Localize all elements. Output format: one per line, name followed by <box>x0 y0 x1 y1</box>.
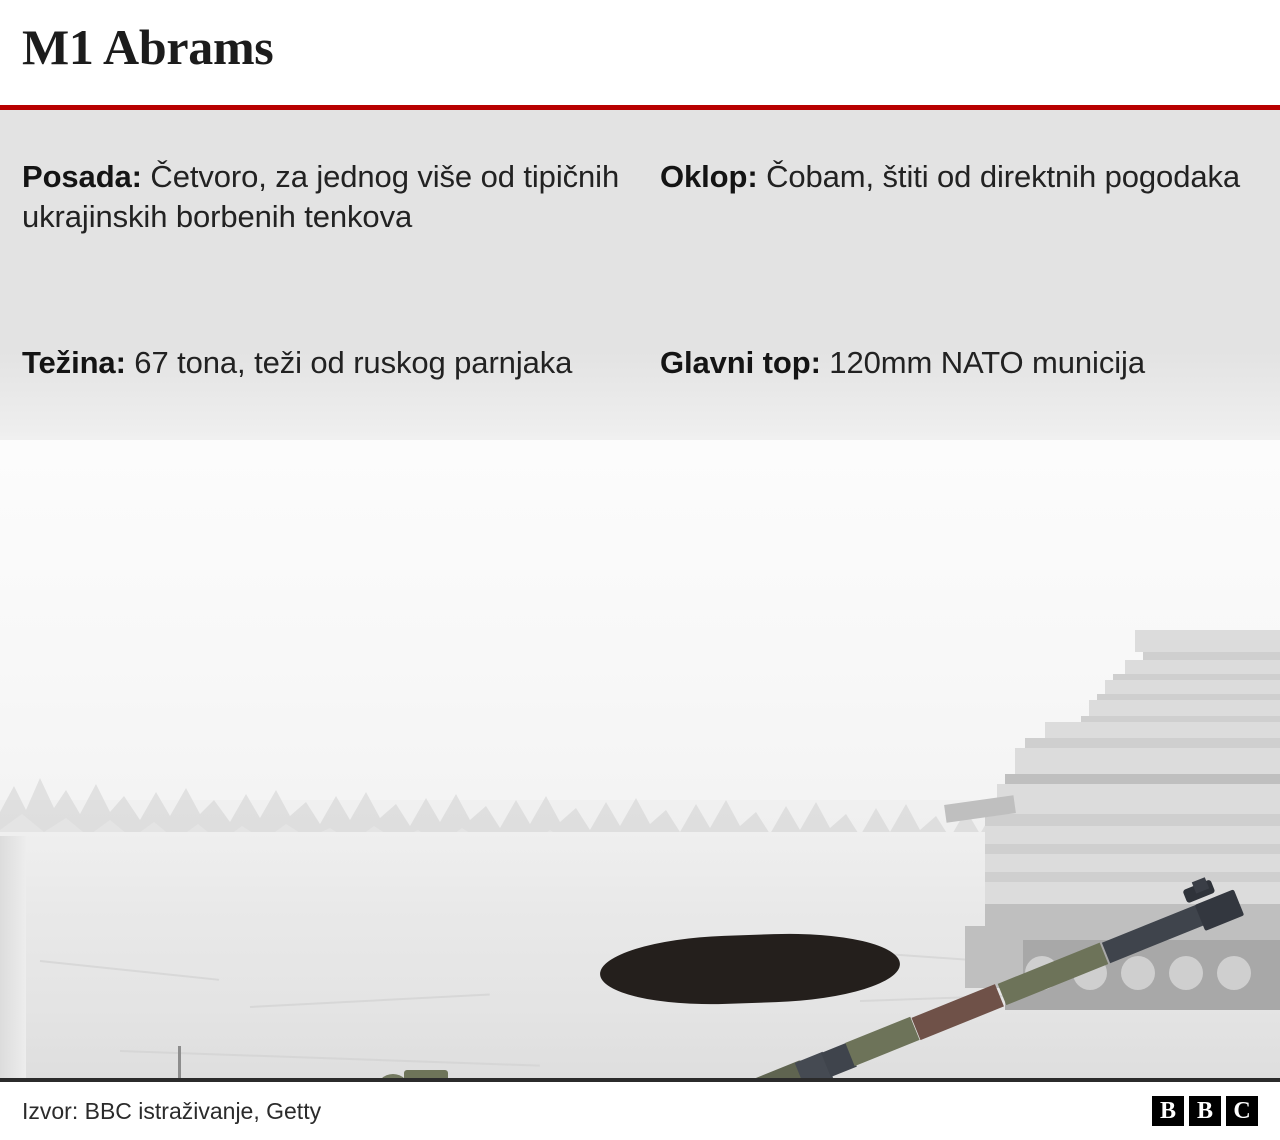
footer: Izvor: BBC istraživanje, Getty B B C <box>0 1082 1280 1140</box>
source-credit: Izvor: BBC istraživanje, Getty <box>22 1098 321 1125</box>
road-wheels <box>0 490 1280 1080</box>
fact-item-weight: Težina: 67 tona, teži od ruskog parnjaka <box>22 343 622 383</box>
header: M1 Abrams <box>0 0 1280 105</box>
fact-item-main-gun: Glavni top: 120mm NATO municija <box>660 343 1260 383</box>
fact-label-crew: Posada: <box>22 159 142 194</box>
infographic-card: M1 Abrams Posada: Četvoro, za jednog viš… <box>0 0 1280 1140</box>
fact-value-weight: 67 tona, teži od ruskog parnjaka <box>126 345 573 380</box>
fact-value-armour: Čobam, štiti od direktnih pogodaka <box>758 159 1240 194</box>
bbc-logo-letter-2: B <box>1189 1096 1221 1126</box>
page-title: M1 Abrams <box>22 18 273 76</box>
bbc-logo-letter-3: C <box>1226 1096 1258 1126</box>
bbc-logo-letter-1: B <box>1152 1096 1184 1126</box>
fact-value-main-gun: 120mm NATO municija <box>821 345 1145 380</box>
m1-abrams-tank <box>0 490 1280 1080</box>
fact-label-weight: Težina: <box>22 345 126 380</box>
fact-item-crew: Posada: Četvoro, za jednog više od tipič… <box>22 157 622 237</box>
fact-item-armour: Oklop: Čobam, štiti od direktnih pogodak… <box>660 157 1260 197</box>
fact-label-armour: Oklop: <box>660 159 758 194</box>
fact-label-main-gun: Glavni top: <box>660 345 821 380</box>
bbc-logo: B B C <box>1152 1096 1258 1126</box>
tank-photograph <box>0 440 1280 1080</box>
